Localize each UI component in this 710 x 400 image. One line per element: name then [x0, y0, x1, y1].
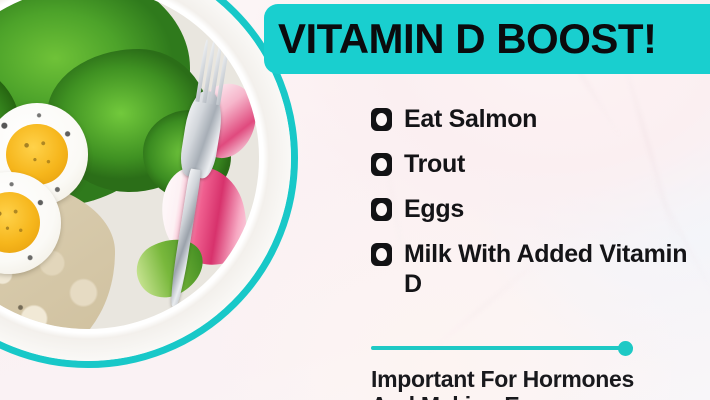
- headline-banner: VITAMIN D BOOST!: [264, 4, 710, 74]
- food-photo-circle: [0, 0, 298, 368]
- fork-head: [178, 88, 226, 180]
- square-donut-bullet-icon: [371, 243, 392, 266]
- progress-slider[interactable]: [371, 341, 633, 356]
- page-title: VITAMIN D BOOST!: [278, 18, 657, 60]
- slider-knob[interactable]: [618, 341, 633, 356]
- list-item: Eat Salmon: [371, 104, 701, 134]
- list-item-label: Milk With Added Vitamin D: [404, 239, 701, 299]
- square-donut-bullet-icon: [371, 198, 392, 221]
- list-item-label: Trout: [404, 149, 465, 179]
- footer-line-1: Important For Hormones: [371, 366, 691, 392]
- poster-canvas: VITAMIN D BOOST! Eat Salmon Trout Eggs M…: [0, 0, 710, 400]
- list-item-label: Eggs: [404, 194, 464, 224]
- list-item-label: Eat Salmon: [404, 104, 537, 134]
- footer-caption: Important For Hormones And Making E: [371, 366, 691, 400]
- square-donut-bullet-icon: [371, 153, 392, 176]
- list-item: Eggs: [371, 194, 701, 224]
- salad-bowl-image: [0, 0, 291, 361]
- slider-track[interactable]: [371, 346, 633, 350]
- food-source-list: Eat Salmon Trout Eggs Milk With Added Vi…: [371, 104, 701, 314]
- list-item: Milk With Added Vitamin D: [371, 239, 701, 299]
- fork-handle: [169, 168, 202, 308]
- bowl-contents: [0, 0, 259, 329]
- square-donut-bullet-icon: [371, 108, 392, 131]
- list-item: Trout: [371, 149, 701, 179]
- footer-line-2: And Making E: [371, 392, 691, 400]
- egg-yolk-icon: [0, 192, 40, 253]
